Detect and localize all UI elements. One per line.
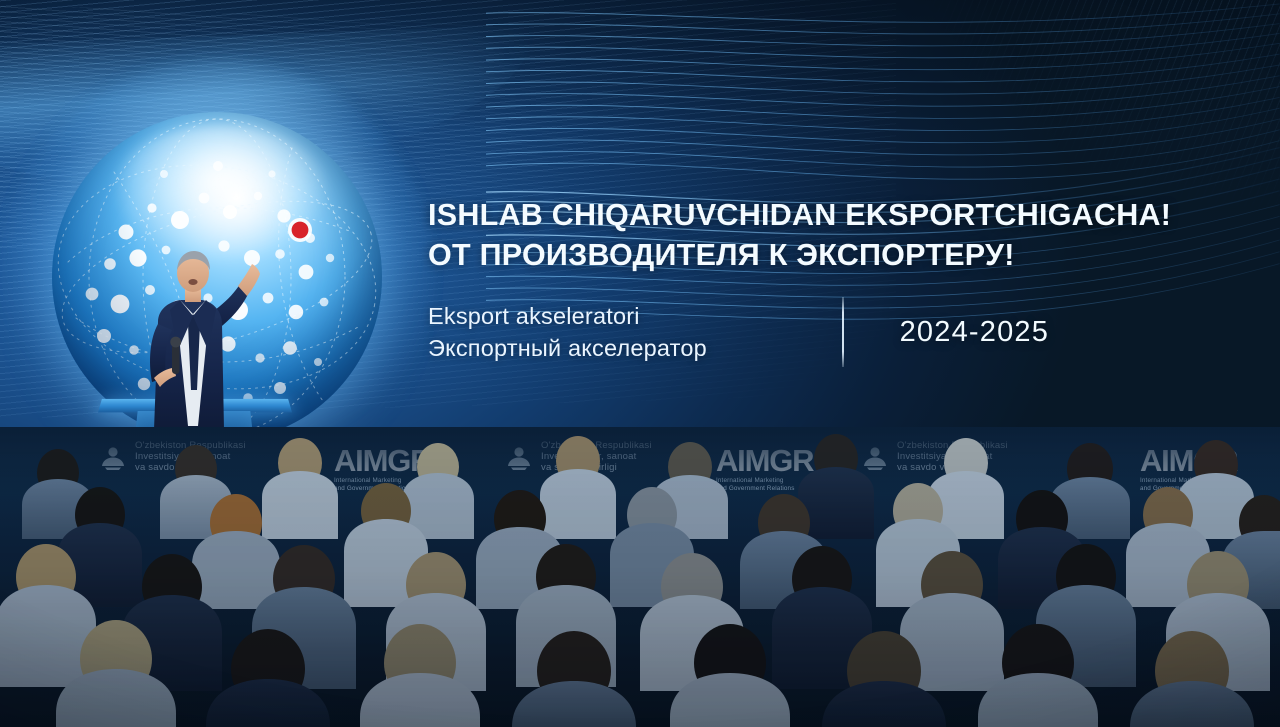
subtitle-block: Eksport akseleratori Экспортный акселера… [428, 300, 828, 365]
headline-russian: ОТ ПРОИЗВОДИТЕЛЯ К ЭКСПОРТЕРУ! [428, 236, 1188, 276]
slide-copy: ISHLAB CHIQARUVCHIDAN EKSPORTCHIGACHA! О… [428, 196, 1188, 367]
subtitle-row: Eksport akseleratori Экспортный акселера… [428, 297, 1188, 367]
presentation-slide: ISHLAB CHIQARUVCHIDAN EKSPORTCHIGACHA! О… [0, 0, 1280, 727]
year-range: 2024-2025 [900, 316, 1050, 349]
subtitle-uzbek: Eksport akseleratori [428, 300, 828, 332]
audience-section: O'zbekiston Respublikasi Investitsiyalar… [0, 427, 1280, 727]
headline-uzbek: ISHLAB CHIQARUVCHIDAN EKSPORTCHIGACHA! [428, 196, 1188, 236]
audience-blue-screen [0, 427, 1280, 727]
speaker-figure [118, 240, 268, 450]
vertical-divider [842, 297, 844, 367]
subtitle-russian: Экспортный акселератор [428, 332, 828, 364]
